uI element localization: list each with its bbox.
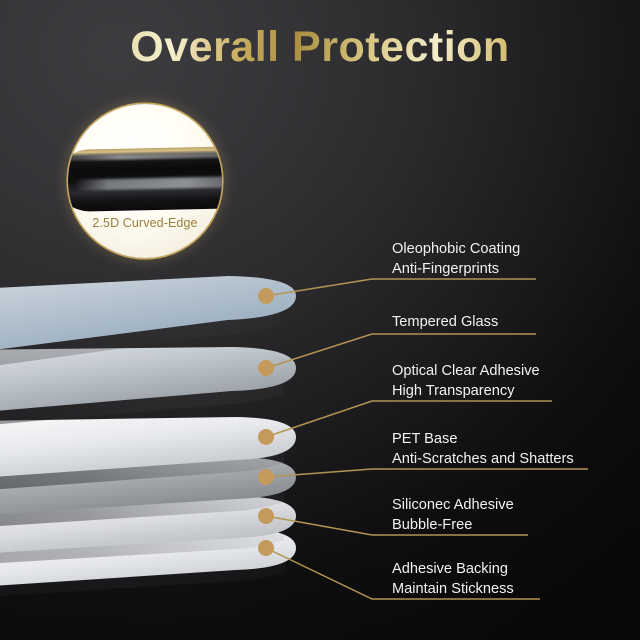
layer-label-line2: Bubble-Free	[392, 516, 514, 536]
page-title: Overall Protection	[0, 24, 640, 71]
layer-label-line1: Tempered Glass	[392, 314, 498, 330]
curved-edge-glass-illustration	[68, 146, 222, 212]
layer-label-line2: Anti-Scratches and Shatters	[392, 450, 574, 470]
layer-label-siliconec-adhesive: Siliconec Adhesive Bubble-Free	[392, 496, 514, 535]
layer-label-adhesive-backing: Adhesive Backing Maintain Stickness	[392, 560, 514, 599]
layer-label-line1: Adhesive Backing	[392, 561, 508, 577]
layer-label-line2: High Transparency	[392, 382, 540, 402]
layer-label-line1: Oleophobic Coating	[392, 241, 520, 257]
layer-label-pet-base: PET Base Anti-Scratches and Shatters	[392, 430, 574, 469]
layer-label-line1: Siliconec Adhesive	[392, 497, 514, 513]
layer-label-line2: Maintain Stickness	[392, 580, 514, 600]
layer-label-oleophobic-coating: Oleophobic Coating Anti-Fingerprints	[392, 240, 520, 279]
layer-label-line1: PET Base	[392, 431, 457, 447]
layer-label-optical-clear-adhesive: Optical Clear Adhesive High Transparency	[392, 362, 540, 401]
infographic-canvas: Overall Protection 2.5D Curved-Edge Oleo…	[0, 0, 640, 640]
layer-label-line1: Optical Clear Adhesive	[392, 363, 540, 379]
layer-label-line2: Anti-Fingerprints	[392, 260, 520, 280]
curved-edge-callout: 2.5D Curved-Edge	[68, 104, 222, 258]
layer-stack-illustration	[0, 0, 640, 640]
curved-edge-callout-label: 2.5D Curved-Edge	[68, 216, 222, 230]
layer-label-tempered-glass: Tempered Glass	[392, 313, 498, 333]
